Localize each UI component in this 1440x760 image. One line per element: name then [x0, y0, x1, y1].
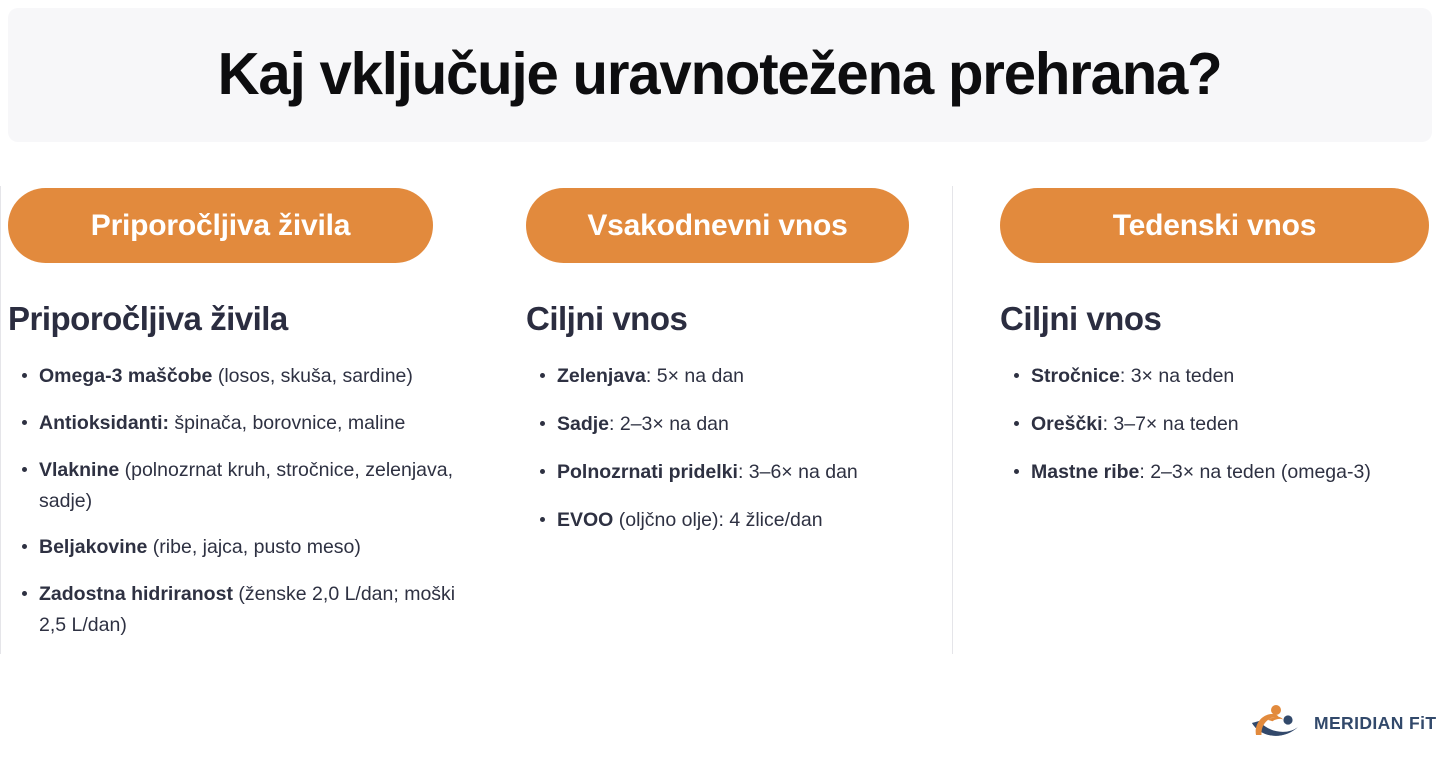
columns-region: Priporočljiva živila Priporočljiva živil…: [0, 186, 1440, 656]
list-item-label: Omega-3 maščobe: [39, 365, 212, 387]
list-item-label: Mastne ribe: [1031, 461, 1139, 483]
bullet-list-3: Stročnice: 3× na teden Oreščki: 3–7× na …: [1000, 361, 1428, 487]
list-item-label: Stročnice: [1031, 365, 1120, 387]
list-item: Stročnice: 3× na teden: [1000, 361, 1428, 392]
list-item: Vlaknine (polnozrnat kruh, stročnice, ze…: [8, 455, 472, 517]
brand-logo: MERIDIAN FiT: [1248, 702, 1436, 744]
list-item: EVOO (oljčno olje): 4 žlice/dan: [526, 505, 937, 536]
section-heading-3: Ciljni vnos: [1000, 301, 1428, 337]
list-item: Oreščki: 3–7× na teden: [1000, 409, 1428, 440]
page-title: Kaj vključuje uravnotežena prehrana?: [218, 44, 1222, 106]
tab-label: Priporočljiva živila: [91, 209, 350, 243]
tab-label: Vsakodnevni vnos: [587, 209, 847, 243]
list-item: Antioksidanti: špinača, borovnice, malin…: [8, 408, 472, 439]
logo-text: MERIDIAN FiT: [1314, 713, 1436, 734]
header-band: Kaj vključuje uravnotežena prehrana?: [8, 8, 1432, 142]
list-item-label: Polnozrnati pridelki: [557, 461, 738, 483]
column-daily-intake: Vsakodnevni vnos Ciljni vnos Zelenjava: …: [480, 186, 953, 656]
list-item-detail: (ribe, jajca, pusto meso): [147, 536, 361, 558]
list-item-detail: : 5× na dan: [646, 365, 744, 387]
list-item: Mastne ribe: 2–3× na teden (omega-3): [1000, 457, 1428, 488]
list-item-label: Zadostna hidriranost: [39, 583, 233, 605]
list-item-detail: : 3–7× na teden: [1103, 413, 1239, 435]
list-item-label: Vlaknine: [39, 459, 119, 481]
tab-tedenski-vnos[interactable]: Tedenski vnos: [1000, 188, 1429, 263]
list-item: Beljakovine (ribe, jajca, pusto meso): [8, 532, 472, 563]
list-item-label: Antioksidanti:: [39, 412, 169, 434]
list-item-detail: : 3× na teden: [1120, 365, 1234, 387]
list-item-detail: : 3–6× na dan: [738, 461, 858, 483]
section-heading-1: Priporočljiva živila: [8, 301, 472, 337]
list-item-detail: : 2–3× na dan: [609, 413, 729, 435]
list-item-detail: (oljčno olje): 4 žlice/dan: [613, 509, 822, 531]
tab-priporocljiva-zivila[interactable]: Priporočljiva živila: [8, 188, 433, 263]
list-item-detail: špinača, borovnice, maline: [169, 412, 405, 434]
list-item-label: Beljakovine: [39, 536, 147, 558]
tab-vsakodnevni-vnos[interactable]: Vsakodnevni vnos: [526, 188, 909, 263]
list-item-label: Oreščki: [1031, 413, 1103, 435]
list-item: Omega-3 maščobe (losos, skuša, sardine): [8, 361, 472, 392]
list-item-label: Sadje: [557, 413, 609, 435]
meridian-fit-logo-mark: [1248, 702, 1306, 744]
list-item-detail: (losos, skuša, sardine): [212, 365, 413, 387]
list-item: Zadostna hidriranost (ženske 2,0 L/dan; …: [8, 579, 472, 641]
section-heading-2: Ciljni vnos: [526, 301, 937, 337]
list-item-detail: : 2–3× na teden (omega-3): [1139, 461, 1370, 483]
bullet-list-2: Zelenjava: 5× na dan Sadje: 2–3× na dan …: [526, 361, 937, 535]
column-weekly-intake: Tedenski vnos Ciljni vnos Stročnice: 3× …: [953, 186, 1440, 656]
list-item: Sadje: 2–3× na dan: [526, 409, 937, 440]
list-item: Zelenjava: 5× na dan: [526, 361, 937, 392]
list-item-label: Zelenjava: [557, 365, 646, 387]
list-item-label: EVOO: [557, 509, 613, 531]
bullet-list-1: Omega-3 maščobe (losos, skuša, sardine) …: [8, 361, 472, 641]
tab-label: Tedenski vnos: [1113, 209, 1317, 243]
list-item: Polnozrnati pridelki: 3–6× na dan: [526, 457, 937, 488]
column-recommended-foods: Priporočljiva živila Priporočljiva živil…: [0, 186, 480, 656]
